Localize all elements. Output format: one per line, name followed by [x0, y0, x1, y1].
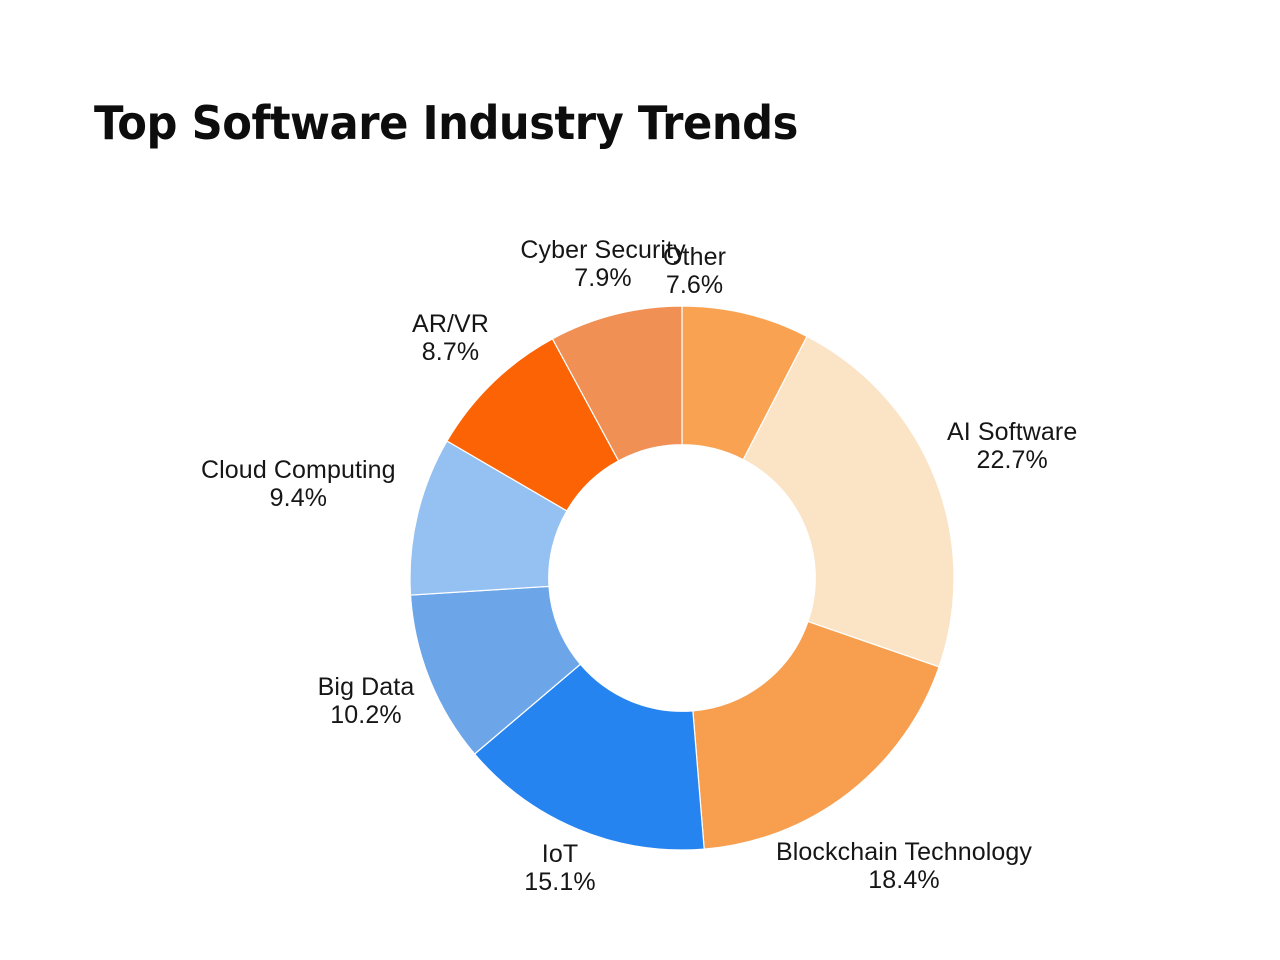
- donut-slice-blockchain-technology[interactable]: [693, 622, 939, 850]
- slice-label-ar-vr: AR/VR 8.7%: [398, 310, 503, 366]
- slice-label-ar-vr-name: AR/VR: [398, 310, 503, 338]
- donut-chart-svg: [0, 0, 1280, 960]
- slice-label-blockchain-technology-value: 18.4%: [776, 866, 1032, 894]
- slice-label-cloud-computing-value: 9.4%: [201, 484, 396, 512]
- slice-label-iot-value: 15.1%: [480, 868, 640, 896]
- slice-label-cloud-computing: Cloud Computing 9.4%: [201, 456, 396, 512]
- donut-slice-group: [410, 306, 954, 850]
- slice-label-cyber-security-name: Cyber Security: [518, 236, 688, 264]
- chart-page: Top Software Industry Trends Other 7.6% …: [0, 0, 1280, 960]
- slice-label-ai-software-value: 22.7%: [947, 446, 1077, 474]
- slice-label-ai-software: AI Software 22.7%: [947, 418, 1077, 474]
- slice-label-cyber-security: Cyber Security 7.9%: [518, 236, 688, 292]
- slice-label-iot: IoT 15.1%: [480, 840, 640, 896]
- donut-chart: Other 7.6% AI Software 22.7% Blockchain …: [0, 0, 1280, 960]
- slice-label-ar-vr-value: 8.7%: [398, 338, 503, 366]
- slice-label-big-data-value: 10.2%: [286, 701, 446, 729]
- slice-label-iot-name: IoT: [480, 840, 640, 868]
- slice-label-cyber-security-value: 7.9%: [518, 264, 688, 292]
- slice-label-cloud-computing-name: Cloud Computing: [201, 456, 396, 484]
- slice-label-ai-software-name: AI Software: [947, 418, 1077, 446]
- slice-label-big-data-name: Big Data: [286, 673, 446, 701]
- slice-label-blockchain-technology: Blockchain Technology 18.4%: [776, 838, 1032, 894]
- slice-label-big-data: Big Data 10.2%: [286, 673, 446, 729]
- slice-label-blockchain-technology-name: Blockchain Technology: [776, 838, 1032, 866]
